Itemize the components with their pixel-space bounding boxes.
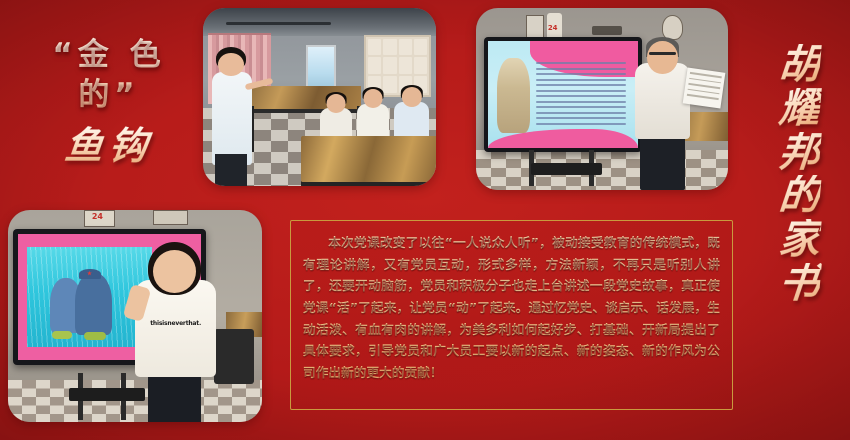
photo-3-scene: 24 — [8, 210, 262, 422]
face — [401, 87, 421, 107]
shoe — [52, 331, 72, 339]
presenter-pants — [215, 154, 248, 186]
poster-canvas: “金 色 的” 鱼钩 胡 耀 邦 的 家 书 — [0, 0, 850, 440]
vertical-title-char-2: 耀 — [777, 88, 822, 130]
face — [364, 89, 383, 108]
description-paragraph: 本次党课改变了以往“一人说众人听”，被动接受教育的传统模式，既有理论讲解，又有党… — [303, 232, 720, 384]
vertical-title-char-6: 书 — [777, 263, 822, 305]
photo-speaker-with-screen: 24 — [476, 8, 728, 190]
wall-decor-shelf — [592, 26, 622, 35]
photo-2-scene: 24 — [476, 8, 728, 190]
chair — [214, 329, 255, 384]
presenter-pants — [148, 375, 201, 422]
photo-1-scene — [203, 8, 436, 186]
speaker-body — [635, 63, 690, 139]
slide-text-lines — [536, 62, 626, 124]
wall-decor-number: 24 — [548, 24, 558, 32]
display-screen — [484, 37, 643, 152]
vertical-title-char-3: 邦 — [777, 132, 822, 174]
keyboard — [531, 163, 602, 176]
vertical-title-char-4: 的 — [777, 175, 822, 217]
wall-decor-number: 24 — [92, 212, 103, 221]
shoe — [84, 332, 105, 340]
screen-content — [488, 41, 639, 148]
keyboard — [69, 388, 145, 401]
face — [326, 94, 345, 113]
photo-meeting-room — [203, 8, 436, 186]
vertical-title: 胡 耀 邦 的 家 书 — [770, 44, 828, 404]
title-line-primary: “金 色 的” — [14, 36, 204, 115]
wall-decor-shelf — [153, 210, 189, 225]
vertical-title-char-5: 家 — [777, 219, 822, 261]
speaker-pants — [640, 135, 685, 190]
title-line-secondary: 鱼钩 — [12, 125, 206, 167]
vertical-title-char-1: 胡 — [777, 44, 822, 86]
description-panel: 本次党课改变了以往“一人说众人听”，被动接受教育的传统模式，既有理论讲解，又有党… — [290, 220, 733, 410]
speaker-face — [647, 41, 677, 74]
presenter-face — [218, 53, 244, 76]
soldier-figure-2 — [75, 273, 112, 335]
photo-presenter-with-illustration: 24 — [8, 210, 262, 422]
track-light — [226, 22, 331, 25]
front-table — [301, 136, 436, 182]
tshirt-print-text: thisisneverthat. — [145, 320, 206, 327]
poster-title: “金 色 的” 鱼钩 — [14, 36, 204, 167]
speaker-script-paper — [683, 67, 725, 108]
slide-illustration — [497, 58, 530, 133]
glasses-icon — [649, 52, 677, 55]
